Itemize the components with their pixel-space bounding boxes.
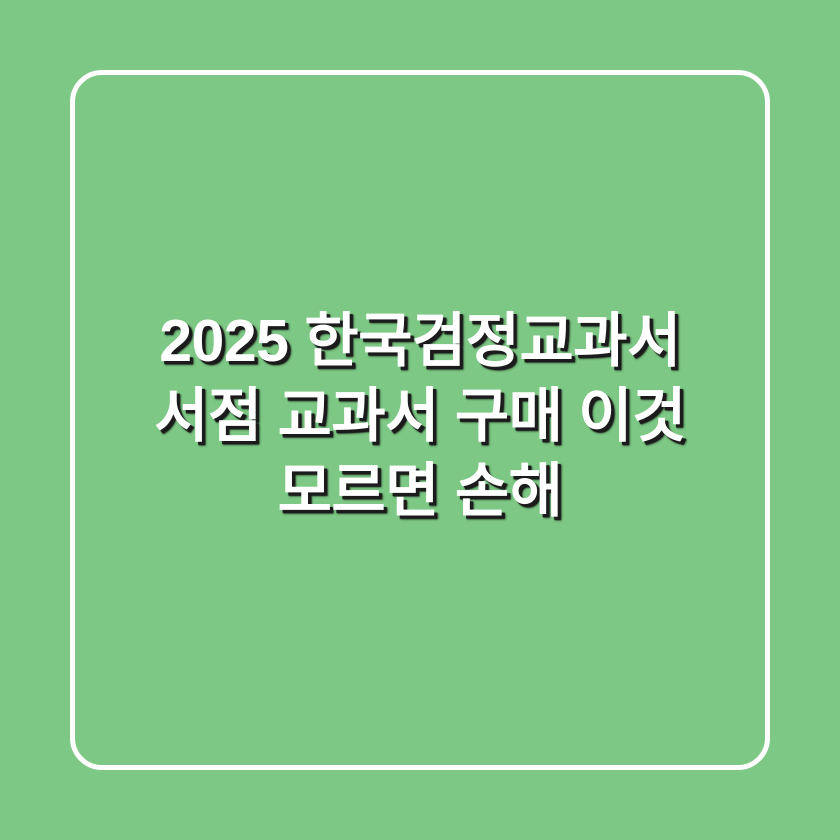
thumbnail-card: 2025 한국검정교과서 서점 교과서 구매 이것 모르면 손해 <box>0 0 840 840</box>
page-title: 2025 한국검정교과서 서점 교과서 구매 이것 모르면 손해 <box>110 304 730 529</box>
title-line-1: 2025 한국검정교과서 <box>159 304 681 379</box>
title-line-2: 서점 교과서 구매 이것 <box>154 379 686 454</box>
title-line-3: 모르면 손해 <box>278 454 563 529</box>
